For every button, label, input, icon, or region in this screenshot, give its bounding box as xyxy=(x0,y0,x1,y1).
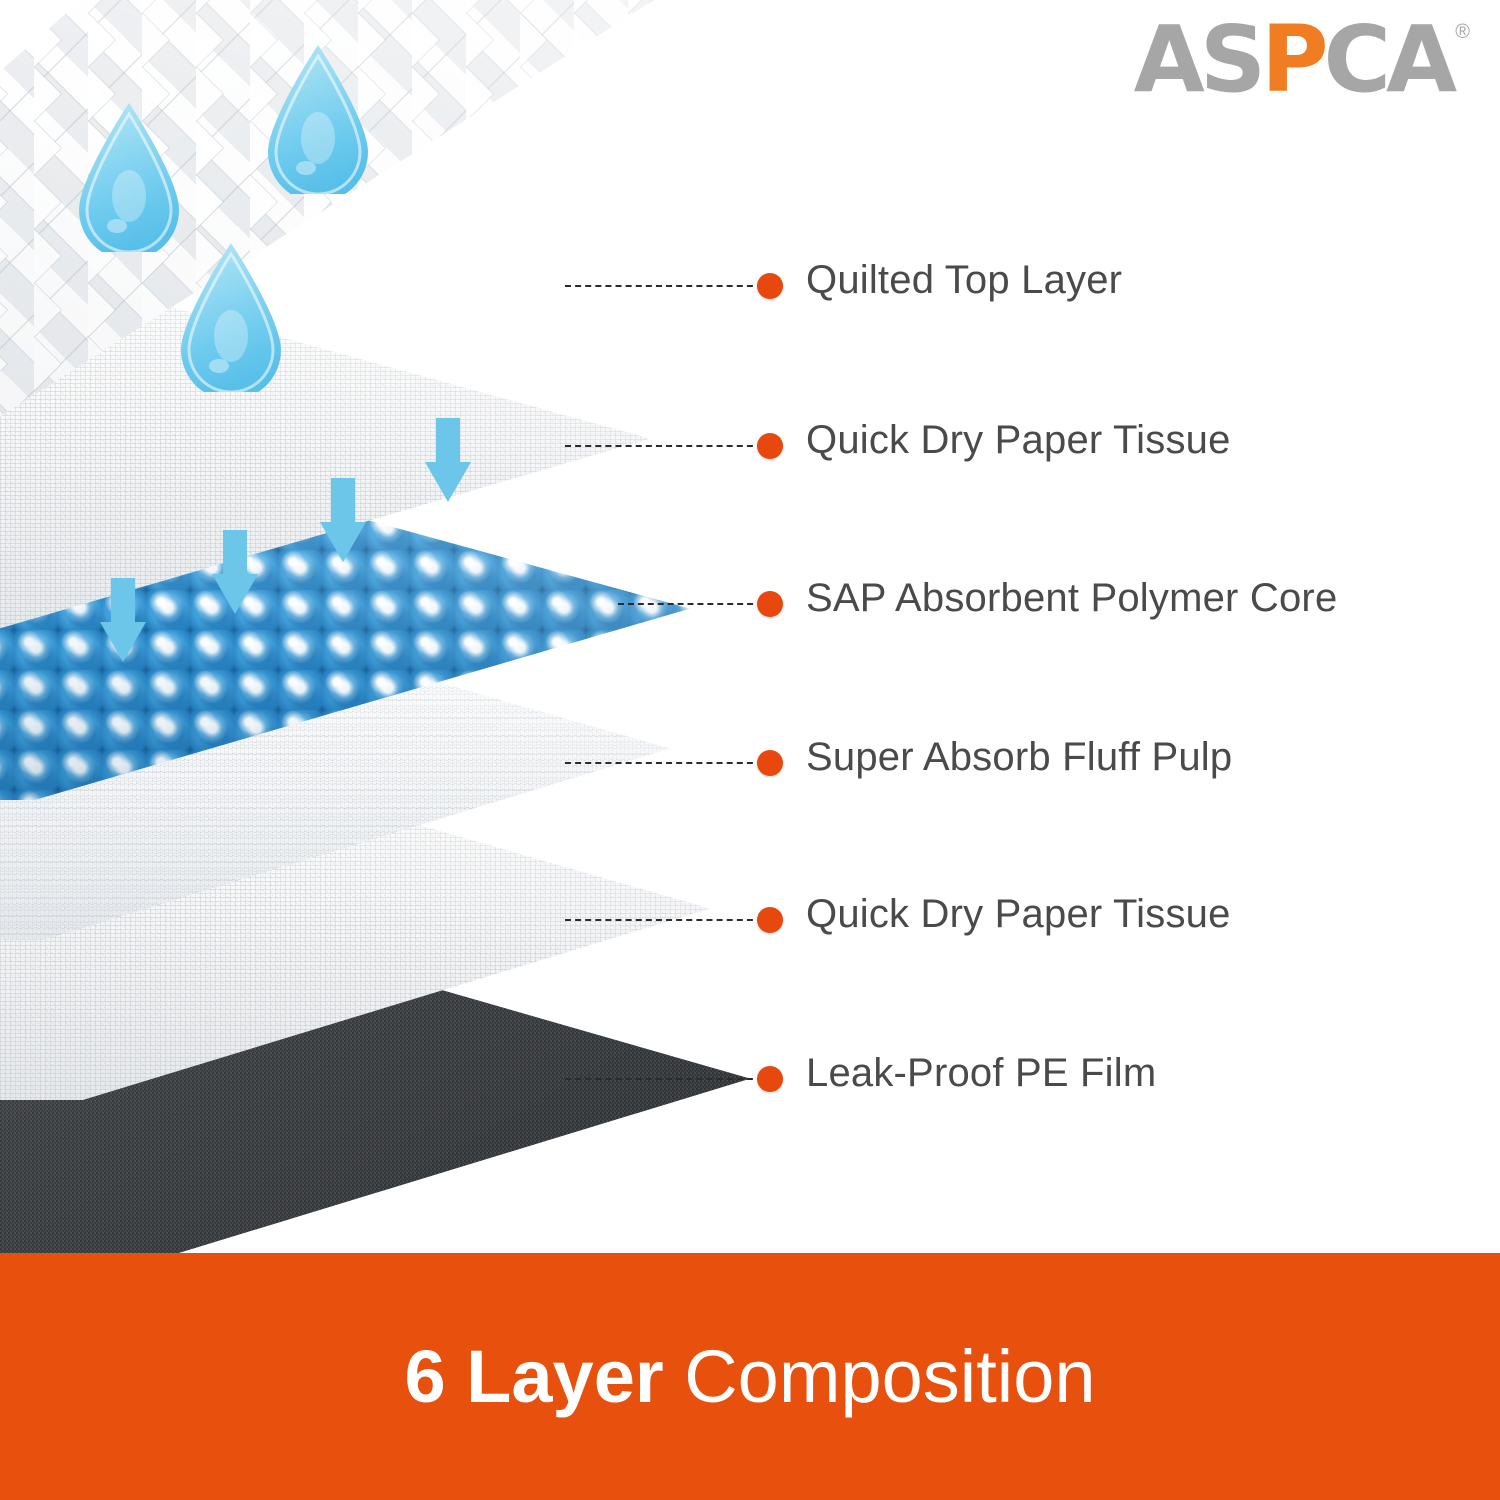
callout-label: Quick Dry Paper Tissue xyxy=(806,892,1231,937)
leader-line xyxy=(618,603,763,605)
callout-dot xyxy=(757,591,783,617)
callout-label: Super Absorb Fluff Pulp xyxy=(806,735,1232,780)
leader-line xyxy=(565,445,763,447)
banner-headline-regular: Composition xyxy=(684,1335,1095,1418)
water-droplet-icon xyxy=(178,240,284,392)
bottom-banner: 6 Layer Composition xyxy=(0,1253,1500,1500)
callout-label: Leak-Proof PE Film xyxy=(806,1051,1156,1096)
water-droplet-icon xyxy=(76,100,182,252)
absorption-arrow-down-icon xyxy=(212,530,258,614)
leader-line xyxy=(565,285,763,287)
leader-line xyxy=(565,1078,763,1080)
callout-label: Quick Dry Paper Tissue xyxy=(806,418,1231,463)
infographic-page: AS P CA ® xyxy=(0,0,1500,1500)
banner-headline-bold: 6 Layer xyxy=(404,1335,663,1418)
absorption-arrow-down-icon xyxy=(320,478,366,562)
callout-dot xyxy=(757,273,783,299)
leader-line xyxy=(565,919,763,921)
callout-dot xyxy=(757,750,783,776)
callout-dot xyxy=(757,907,783,933)
callout-dot xyxy=(757,433,783,459)
banner-headline: 6 Layer Composition xyxy=(404,1340,1095,1414)
leader-line xyxy=(565,762,763,764)
callout-label: Quilted Top Layer xyxy=(806,258,1122,303)
absorption-arrow-down-icon xyxy=(425,418,471,502)
layer-stack-illustration xyxy=(0,0,1500,1260)
callout-dot xyxy=(757,1066,783,1092)
water-droplet-icon xyxy=(265,42,371,194)
absorption-arrow-down-icon xyxy=(100,578,146,662)
callout-label: SAP Absorbent Polymer Core xyxy=(806,576,1337,621)
